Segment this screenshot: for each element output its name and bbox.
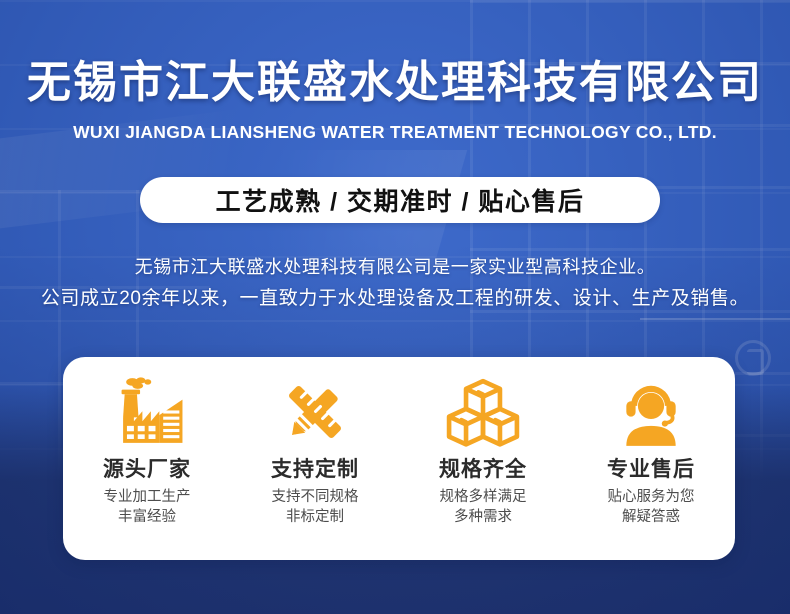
banner-stage: 无锡市江大联盛水处理科技有限公司 WUXI JIANGDA LIANSHENG … (0, 0, 790, 614)
company-title-en: WUXI JIANGDA LIANSHENG WATER TREATMENT T… (0, 120, 790, 144)
company-title-cn: 无锡市江大联盛水处理科技有限公司 (0, 52, 790, 114)
features-card: 源头厂家 专业加工生产 丰富经验 (63, 357, 735, 560)
feature-subtitle: 规格多样满足 多种需求 (440, 487, 527, 527)
feature-item-after-sales: 专业售后 贴心服务为您 解疑答惑 (567, 357, 735, 560)
feature-subtitle-line-2: 丰富经验 (104, 507, 191, 527)
boxes-icon (444, 375, 522, 449)
feature-subtitle-line-1: 规格多样满足 (440, 487, 527, 507)
feature-item-customization: 支持定制 支持不同规格 非标定制 (231, 357, 399, 560)
feature-subtitle-line-2: 非标定制 (272, 507, 359, 527)
company-description: 无锡市江大联盛水处理科技有限公司是一家实业型高科技企业。 公司成立20余年以来，… (0, 252, 790, 316)
feature-title: 源头厂家 (103, 457, 191, 483)
feature-title: 规格齐全 (439, 457, 527, 483)
feature-title: 专业售后 (607, 457, 695, 483)
description-line-1: 无锡市江大联盛水处理科技有限公司是一家实业型高科技企业。 (0, 252, 790, 282)
feature-subtitle-line-2: 多种需求 (440, 507, 527, 527)
feature-subtitle: 贴心服务为您 解疑答惑 (608, 487, 695, 527)
feature-subtitle: 支持不同规格 非标定制 (272, 487, 359, 527)
pencil-ruler-icon (276, 375, 354, 449)
description-line-2: 公司成立20余年以来，一直致力于水处理设备及工程的研发、设计、生产及销售。 (0, 282, 790, 316)
page-header: 无锡市江大联盛水处理科技有限公司 WUXI JIANGDA LIANSHENG … (0, 52, 790, 144)
feature-subtitle-line-1: 贴心服务为您 (608, 487, 695, 507)
feature-subtitle: 专业加工生产 丰富经验 (104, 487, 191, 527)
headset-support-icon (612, 375, 690, 449)
feature-item-full-specs: 规格齐全 规格多样满足 多种需求 (399, 357, 567, 560)
feature-subtitle-line-1: 支持不同规格 (272, 487, 359, 507)
feature-subtitle-line-2: 解疑答惑 (608, 507, 695, 527)
feature-title: 支持定制 (271, 457, 359, 483)
feature-item-source-factory: 源头厂家 专业加工生产 丰富经验 (63, 357, 231, 560)
feature-subtitle-line-1: 专业加工生产 (104, 487, 191, 507)
factory-icon (108, 375, 186, 449)
tagline-pill: 工艺成熟 / 交期准时 / 贴心售后 (140, 177, 660, 223)
tagline-text: 工艺成熟 / 交期准时 / 贴心售后 (216, 182, 585, 218)
